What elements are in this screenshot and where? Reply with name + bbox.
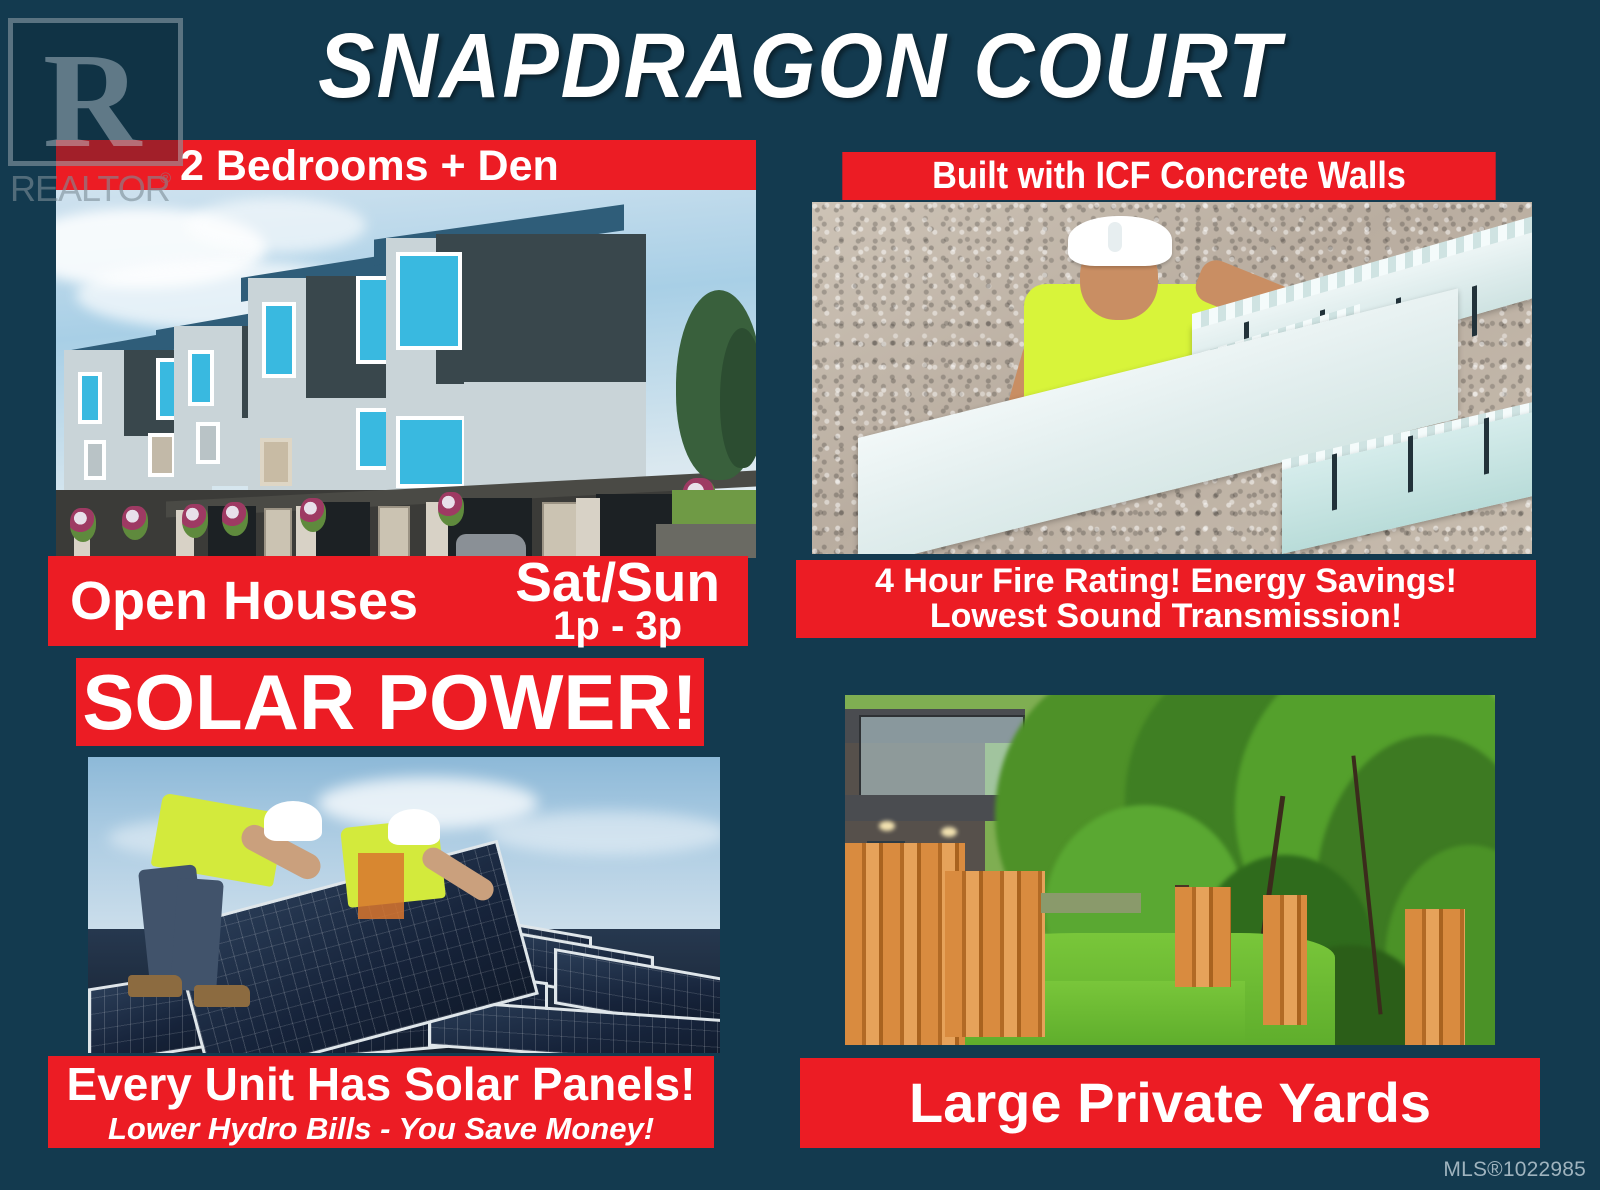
photo-large-private-yard: [845, 695, 1495, 1045]
realtor-logo: R REALTOR ®: [8, 18, 183, 213]
banner-icf-walls: Built with ICF Concrete Walls: [842, 152, 1495, 200]
banner-solar-panels-note: Every Unit Has Solar Panels! Lower Hydro…: [48, 1056, 714, 1148]
banner-solar-panels-line2: Lower Hydro Bills - You Save Money!: [108, 1113, 654, 1144]
photo-solar-panel-installation: [88, 757, 720, 1053]
banner-icf-benefits: 4 Hour Fire Rating! Energy Savings! Lowe…: [796, 560, 1536, 638]
realtor-registered-icon: ®: [160, 170, 171, 187]
realtor-wordmark: REALTOR: [10, 168, 170, 210]
photo-townhouse-exterior: [56, 190, 756, 558]
real-estate-flyer: SNAPDRAGON COURT R REALTOR ® 2 Bedrooms …: [0, 0, 1600, 1190]
banner-icf-walls-label: Built with ICF Concrete Walls: [932, 157, 1406, 195]
page-title: SNAPDRAGON COURT: [239, 14, 1361, 118]
banner-large-private-yards-label: Large Private Yards: [909, 1075, 1431, 1131]
banner-icf-benefits-line1: 4 Hour Fire Rating! Energy Savings!: [875, 564, 1457, 599]
banner-solar-power: SOLAR POWER!: [76, 658, 704, 746]
realtor-r-glyph: R: [43, 41, 141, 161]
banner-open-houses-time: 1p - 3p: [553, 608, 682, 645]
photo-icf-concrete-forms: [812, 202, 1532, 554]
flyer-header: SNAPDRAGON COURT: [0, 0, 1600, 140]
banner-large-private-yards: Large Private Yards: [800, 1058, 1540, 1148]
banner-solar-panels-line1: Every Unit Has Solar Panels!: [67, 1061, 696, 1107]
banner-bedrooms-label: 2 Bedrooms + Den: [180, 145, 559, 188]
banner-solar-power-label: SOLAR POWER!: [82, 663, 697, 741]
banner-open-houses-label: Open Houses: [70, 574, 418, 628]
realtor-mark-box: R: [8, 18, 183, 166]
banner-open-houses-days: Sat/Sun: [515, 557, 720, 608]
mls-number: MLS®1022985: [1443, 1158, 1586, 1182]
banner-open-houses: Open Houses Sat/Sun 1p - 3p: [48, 556, 748, 646]
banner-icf-benefits-line2: Lowest Sound Transmission!: [930, 599, 1402, 634]
